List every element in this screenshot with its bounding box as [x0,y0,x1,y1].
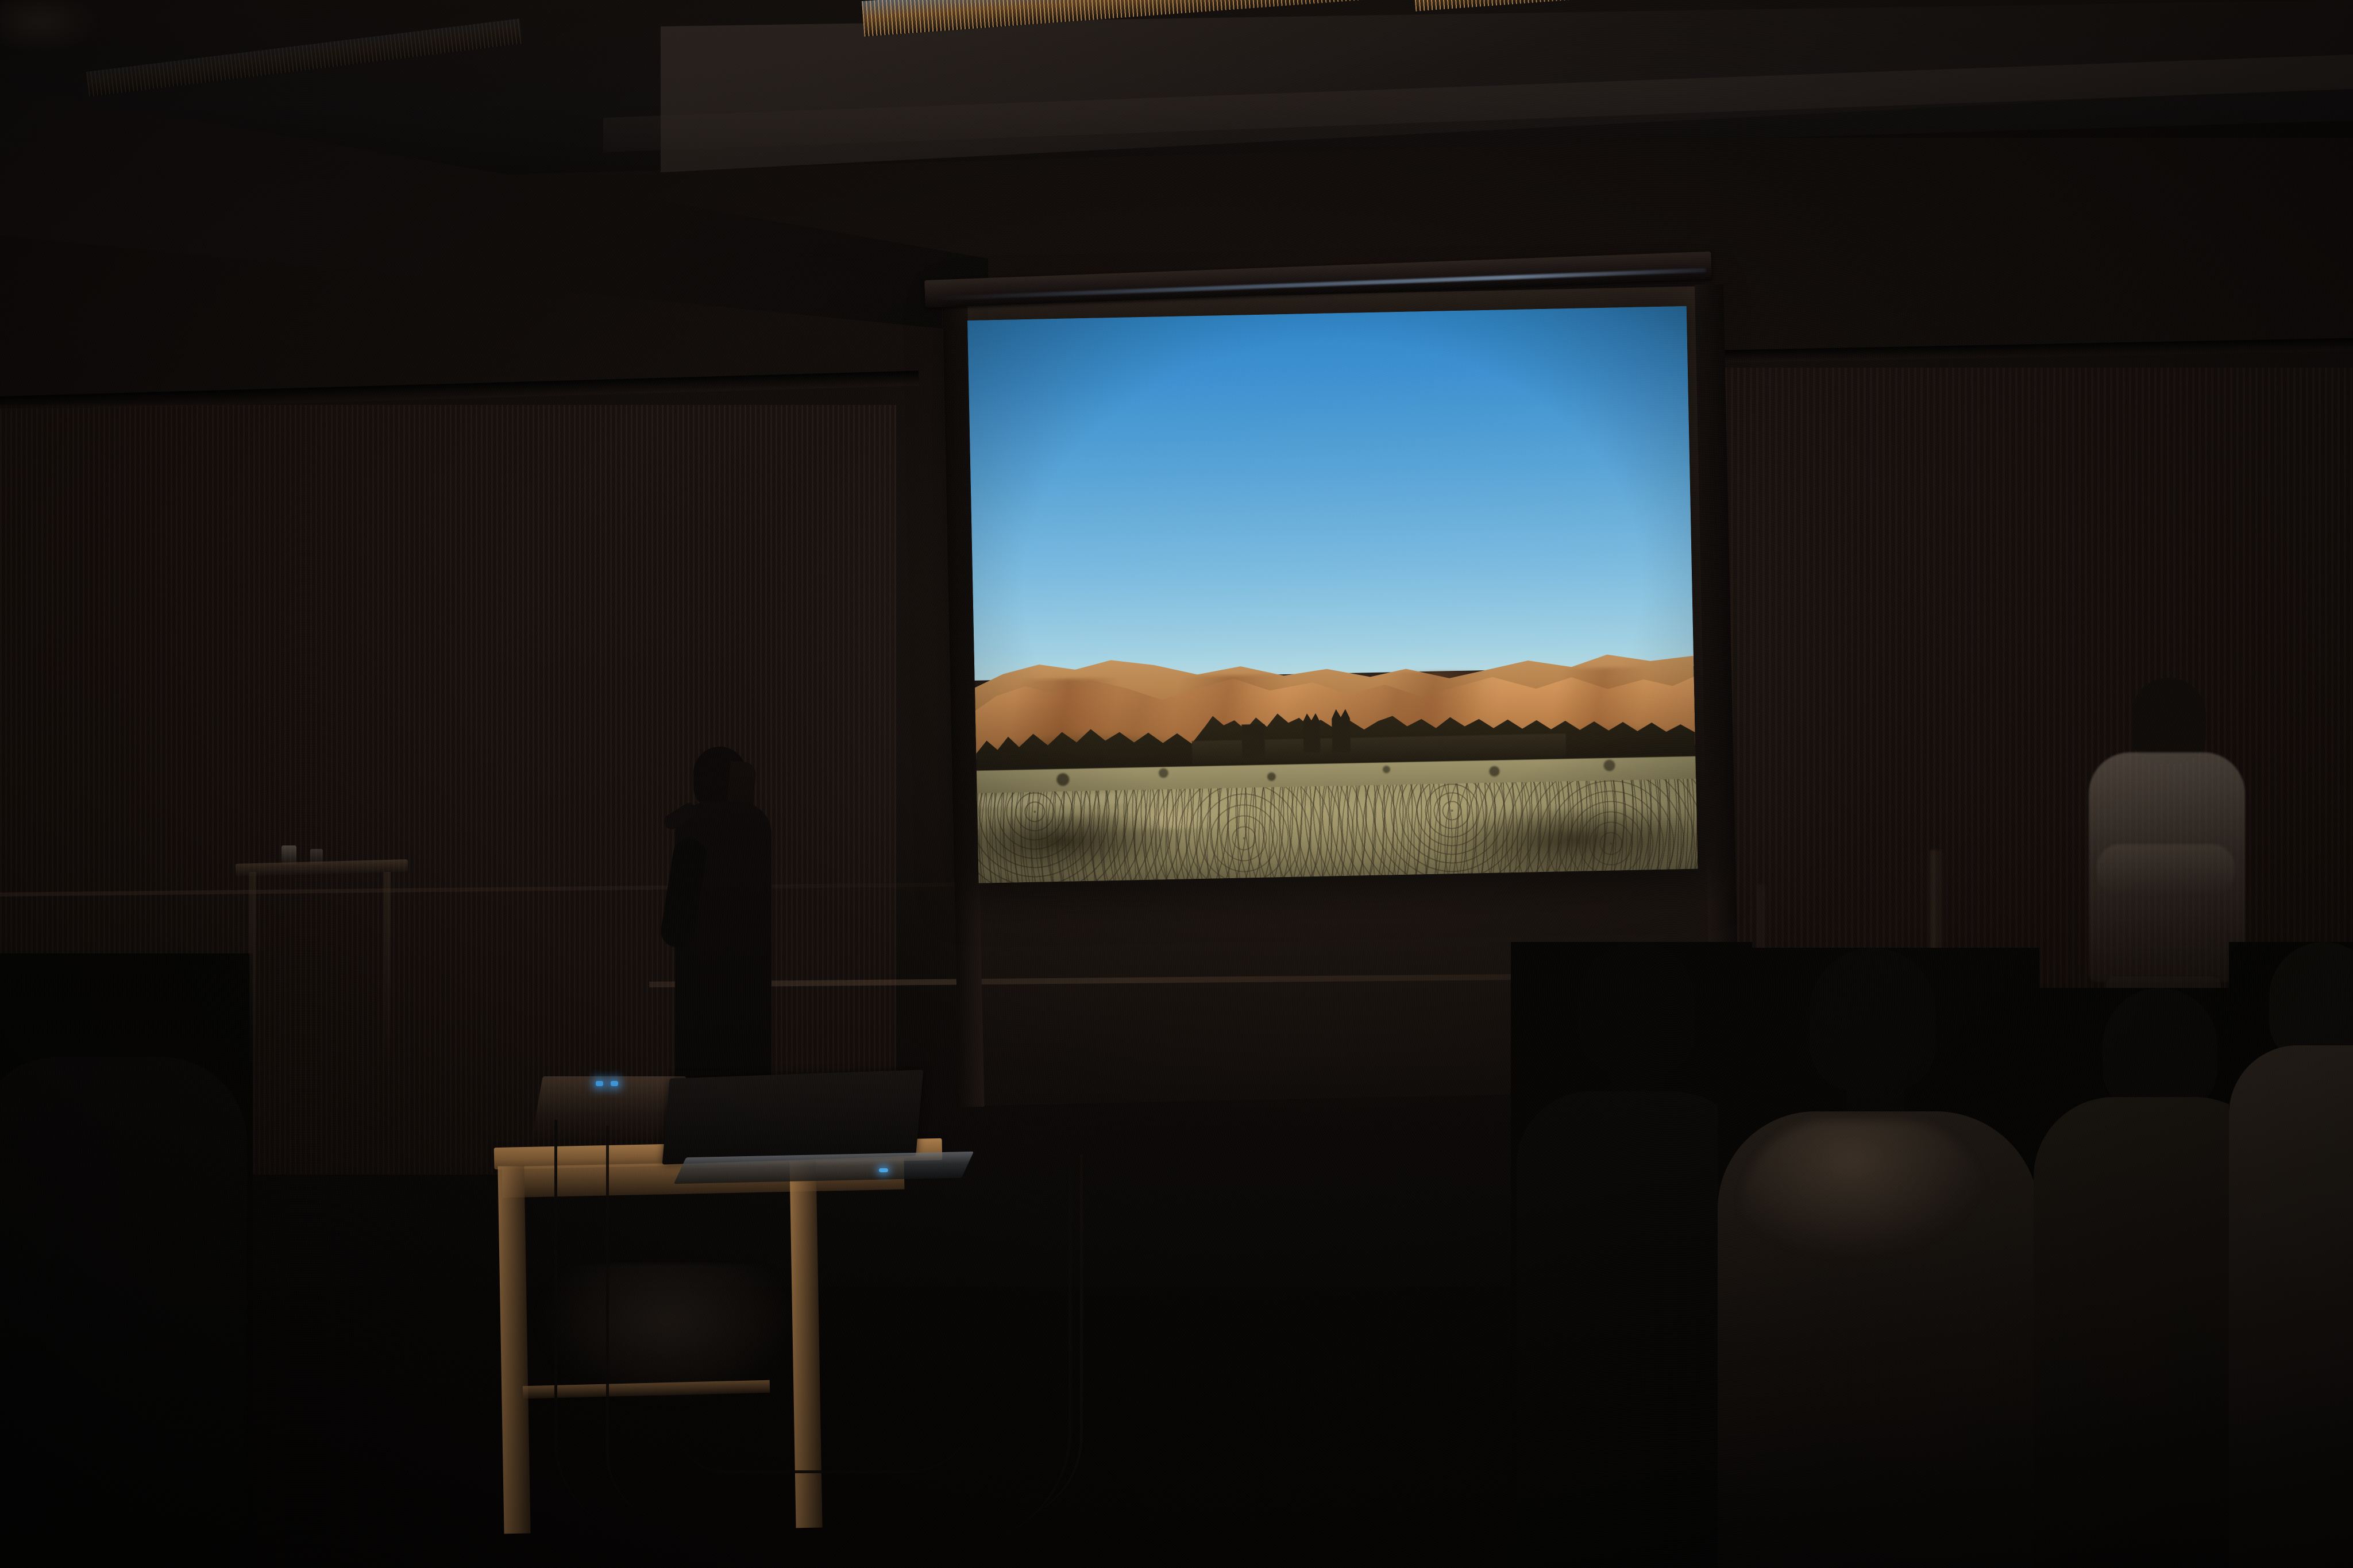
cable [678,1367,977,1473]
side-table-leg [249,872,256,1061]
audience-member-left [0,953,253,1568]
projector [0,0,98,52]
cable [606,1126,701,1522]
audience-head [2103,988,2217,1111]
audience-torso [2229,1045,2353,1568]
photo-sky [967,306,1694,681]
standing-viewer-head [2131,678,2206,764]
audience-member-2 [1718,948,2039,1568]
cable [965,1154,1083,1522]
av-device-led-1-icon [596,1081,603,1086]
audience-member-4 [2229,942,2353,1568]
audience-member-1 [1511,942,1752,1568]
audience-head [1810,948,1936,1091]
photo-dark-rocks-right [1424,806,1698,880]
photo-kasbah-tower-3 [1241,724,1265,759]
laptop-lid [662,1069,924,1164]
audience-head [29,953,138,1074]
audience-shoulder-highlight [1741,1120,1988,1258]
audience-head [2269,942,2353,1063]
laptop-led-icon [879,1168,888,1172]
table-leg-left [497,1166,530,1534]
photo-dark-rocks-left [967,811,1209,883]
av-device-led-2-icon [611,1081,618,1086]
drinking-glass-secondary [310,849,323,865]
audience-torso [1517,1091,1752,1568]
projected-photograph [967,306,1698,883]
drinking-glass [281,845,296,865]
presenter-silhouette [658,747,790,1114]
audience-torso [0,1057,247,1568]
side-table [236,862,408,1068]
lecture-room-scene [0,0,2353,1568]
side-table-leg [384,872,391,1061]
standing-viewer-arms [2097,844,2235,896]
